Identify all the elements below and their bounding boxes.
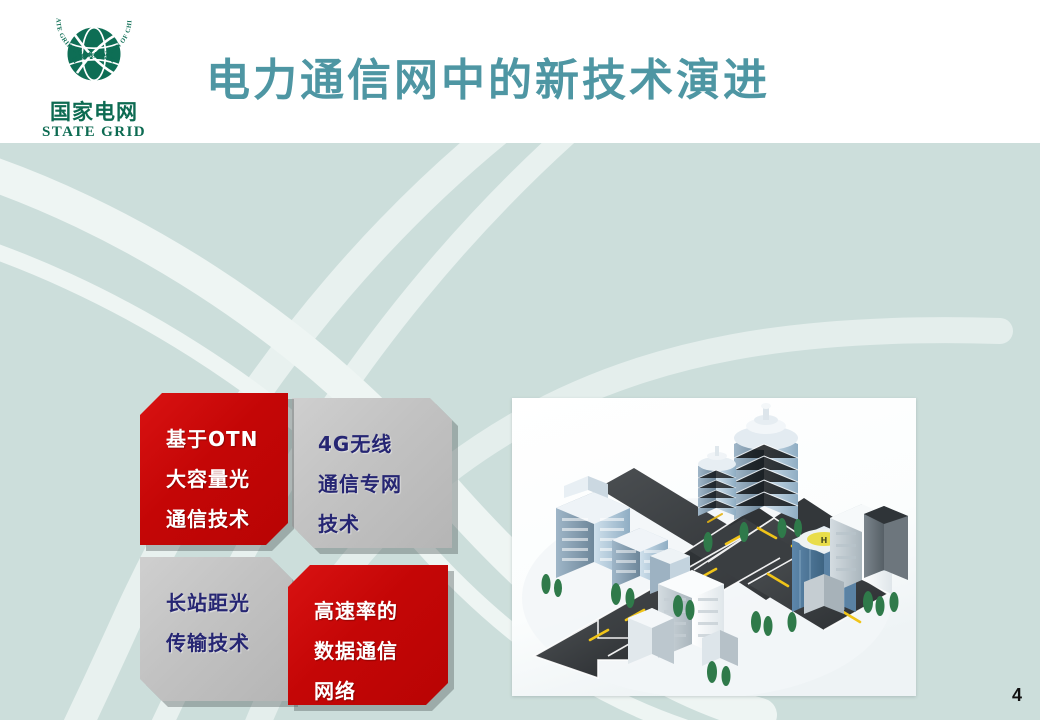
tile-line: 通信技术 [166, 499, 288, 539]
logo-name-cn: 国家电网 [32, 101, 156, 123]
tile-line: 网络 [314, 671, 448, 711]
tile-4g[interactable]: 4G无线 通信专网 技术 [292, 398, 452, 548]
tile-text: 基于OTN 大容量光 通信技术 [140, 393, 288, 545]
technology-tile-grid: 基于OTN 大容量光 通信技术 4G无线 通信专网 技术 长站距光 [140, 393, 470, 698]
tile-text: 长站距光 传输技术 [140, 557, 292, 701]
tile-line: 传输技术 [166, 623, 292, 663]
tile-line: 通信专网 [318, 464, 452, 504]
page-title: 电力通信网中的新技术演进 [206, 44, 770, 108]
state-grid-emblem-icon: 国家电网公司 STATE GRID CORPORATION OF CHINA [50, 14, 138, 100]
tile-line: 4G无线 [318, 424, 452, 464]
city-crossroads-illustration: H [512, 398, 916, 696]
slide-canvas: 国家电网公司 STATE GRID CORPORATION OF CHINA 国… [0, 0, 1040, 720]
tile-text: 高速率的 数据通信 网络 [288, 565, 448, 705]
svg-text:H: H [821, 536, 828, 545]
tile-otn[interactable]: 基于OTN 大容量光 通信技术 [140, 393, 288, 545]
tile-line: 数据通信 [314, 631, 448, 671]
slide-header: 国家电网公司 STATE GRID CORPORATION OF CHINA 国… [0, 0, 1040, 143]
tile-line: 技术 [318, 504, 452, 544]
state-grid-logo: 国家电网公司 STATE GRID CORPORATION OF CHINA 国… [32, 14, 156, 136]
tile-line: 高速率的 [314, 591, 448, 631]
tile-line: 大容量光 [166, 459, 288, 499]
tile-long-haul[interactable]: 长站距光 传输技术 [140, 557, 292, 701]
tile-line: 基于OTN [166, 419, 288, 459]
slide-body: 基于OTN 大容量光 通信技术 4G无线 通信专网 技术 长站距光 [0, 143, 1040, 720]
logo-name-en: STATE GRID [32, 124, 156, 141]
tile-high-speed[interactable]: 高速率的 数据通信 网络 [288, 565, 448, 705]
tile-line: 长站距光 [166, 583, 292, 623]
page-number: 4 [1012, 685, 1022, 706]
tile-text: 4G无线 通信专网 技术 [292, 398, 452, 548]
